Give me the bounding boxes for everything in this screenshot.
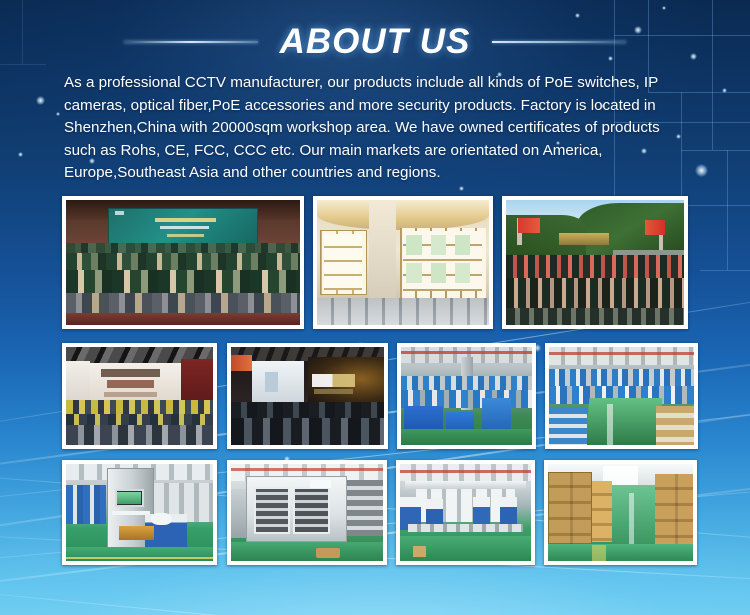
- header-rule-left: [124, 41, 258, 43]
- gallery-photo[interactable]: [502, 196, 688, 329]
- gallery-photo[interactable]: [397, 343, 536, 449]
- page-title: ABOUT US: [280, 22, 471, 62]
- gallery-photo[interactable]: [62, 460, 217, 565]
- gallery-photo[interactable]: [313, 196, 493, 329]
- gallery-row: [62, 460, 688, 565]
- gallery-row: [62, 343, 688, 449]
- section-header: ABOUT US: [0, 16, 750, 68]
- intro-paragraph: As a professional CCTV manufacturer, our…: [64, 72, 692, 185]
- gallery-photo[interactable]: [227, 460, 387, 565]
- gallery-photo[interactable]: [545, 343, 698, 449]
- gallery-photo[interactable]: [62, 343, 217, 449]
- gallery-photo[interactable]: [62, 196, 304, 329]
- gallery-row: [62, 196, 688, 329]
- about-us-page: ABOUT US As a professional CCTV manufact…: [0, 0, 750, 615]
- header-rule-right: [492, 41, 626, 43]
- gallery-photo[interactable]: [544, 460, 697, 565]
- gallery-photo[interactable]: [396, 460, 535, 565]
- photo-gallery: [62, 196, 688, 565]
- gallery-photo[interactable]: [227, 343, 388, 449]
